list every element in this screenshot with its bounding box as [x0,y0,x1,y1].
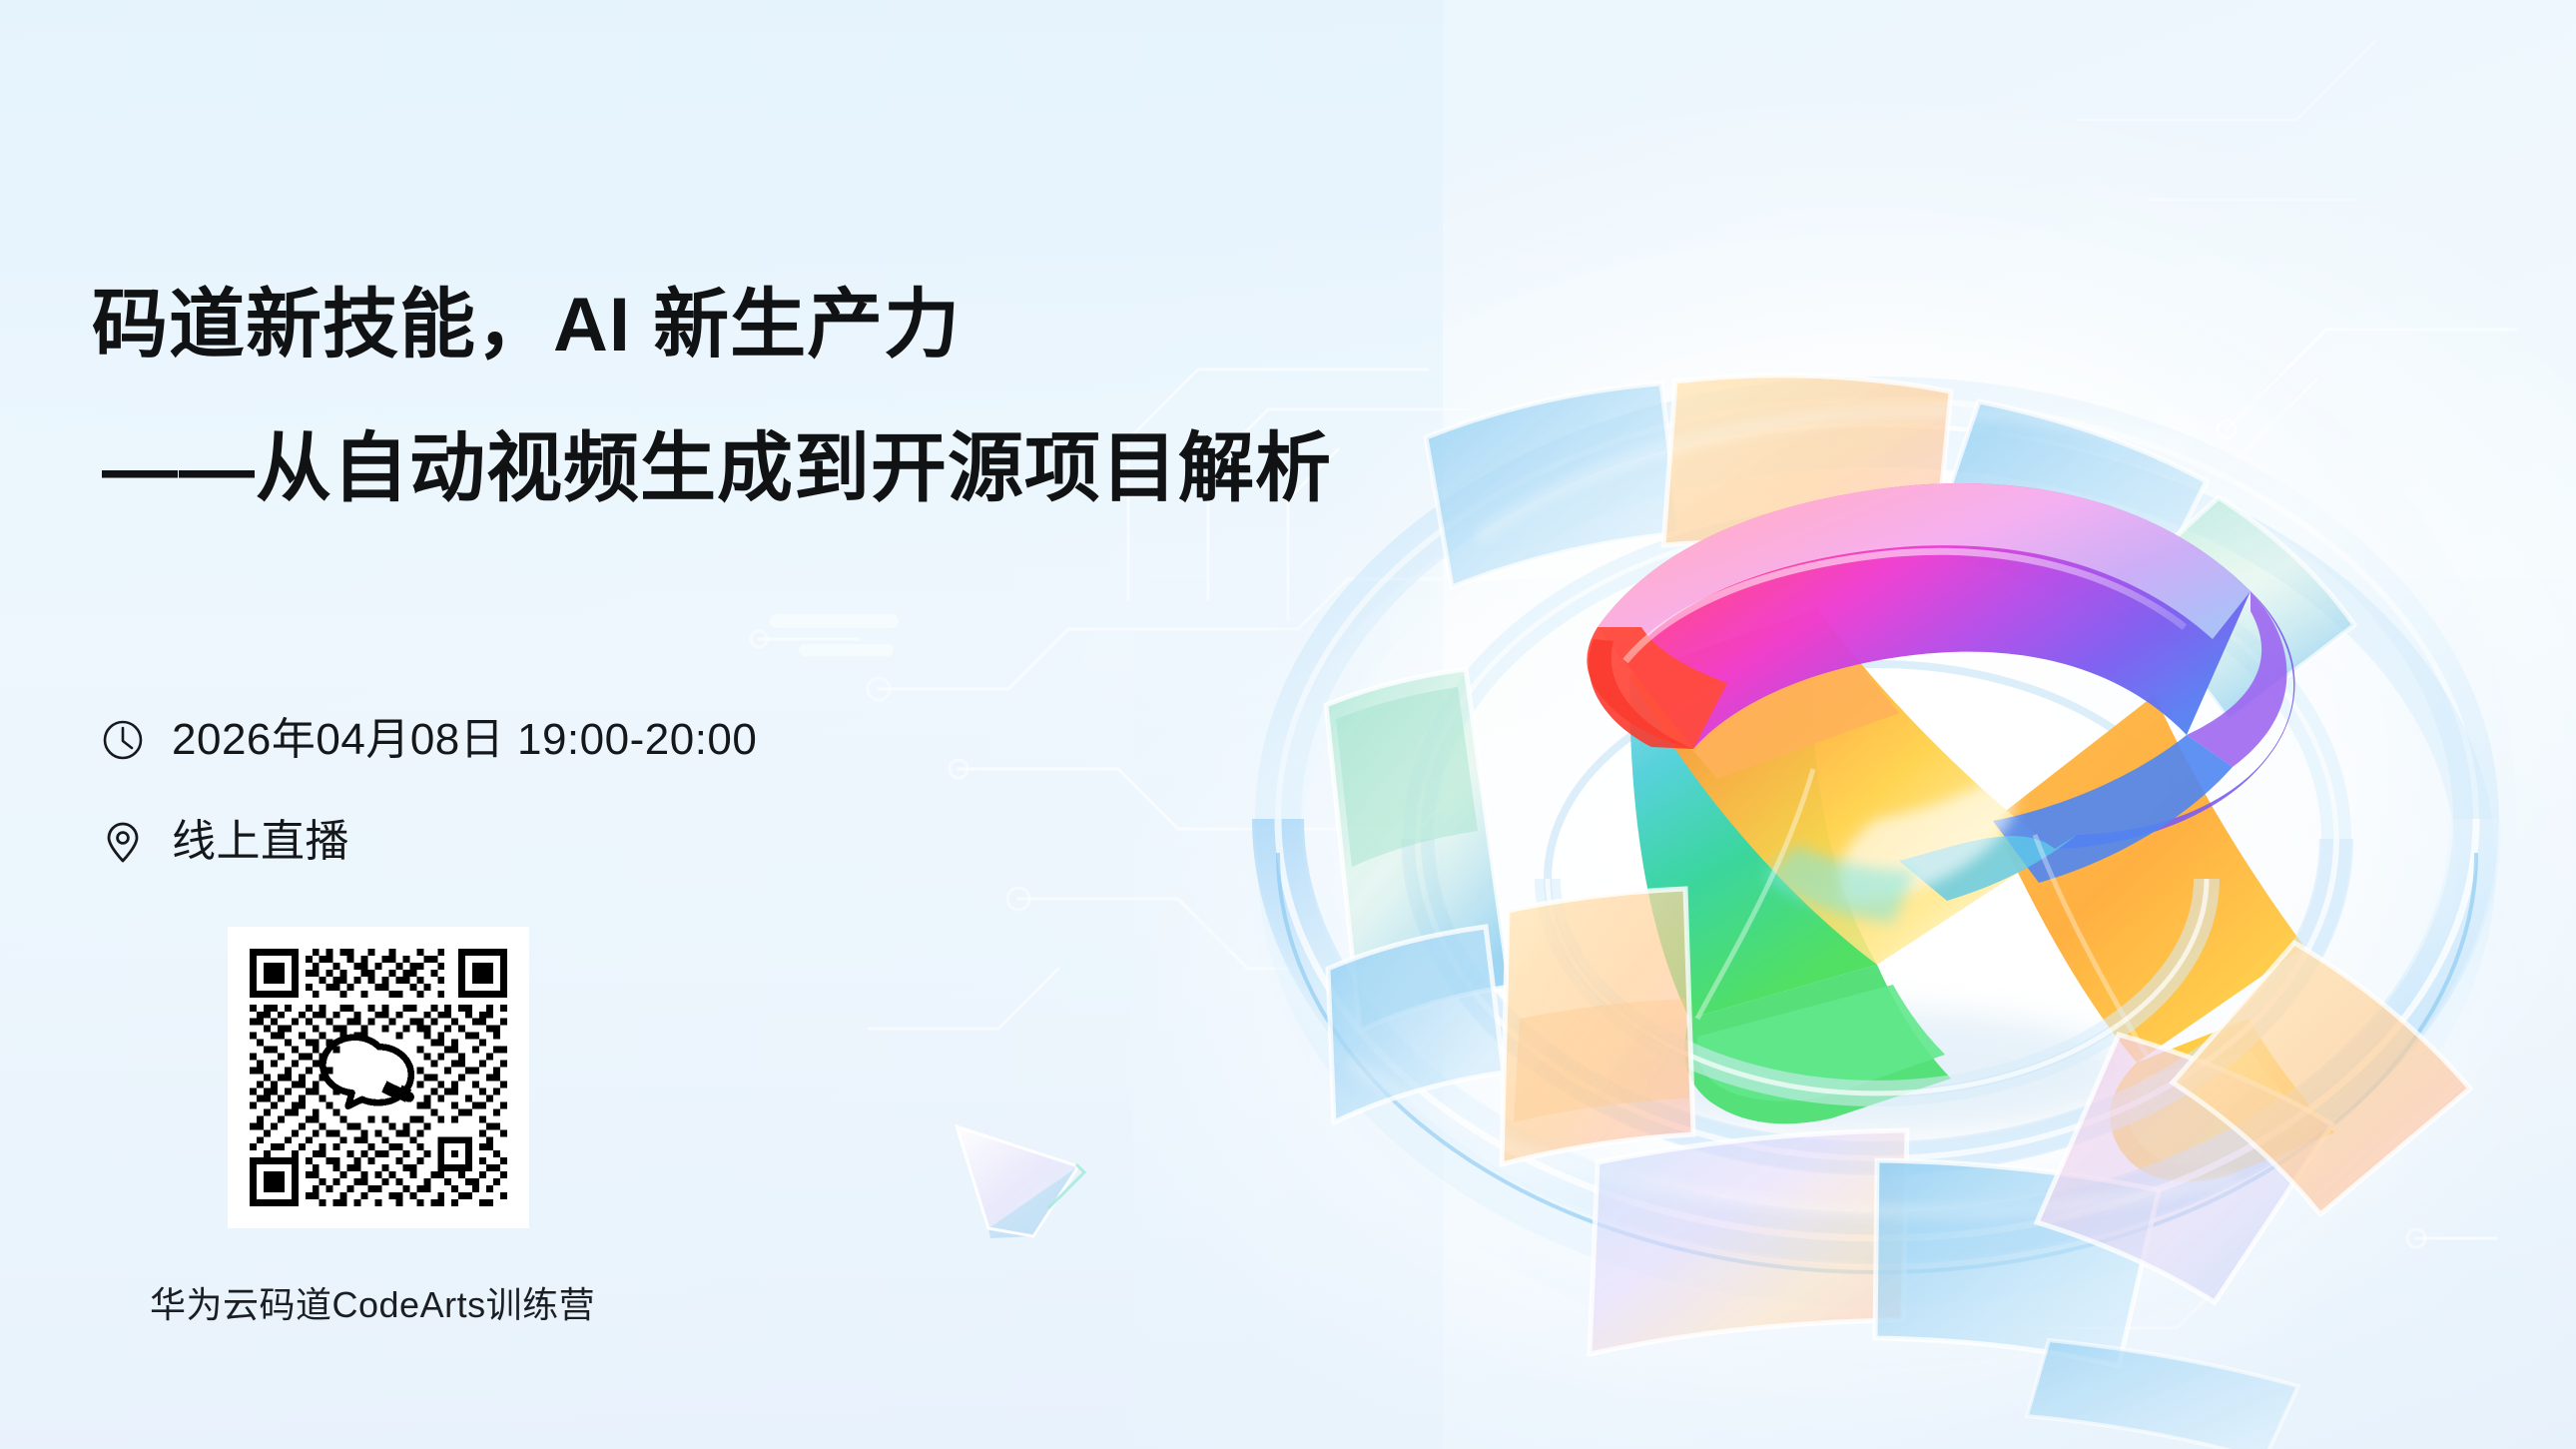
title-block: 码道新技能，AI 新生产力 ——从自动视频生成到开源项目解析 [92,288,1332,507]
event-place-row: 线上直播 [100,819,349,865]
event-place-text: 线上直播 [172,820,349,864]
clock-icon [100,717,146,763]
qr-code[interactable] [228,927,529,1228]
event-time-text: 2026年04月08日 19:00-20:00 [172,718,757,762]
content-column: 码道新技能，AI 新生产力 ——从自动视频生成到开源项目解析 2026年04月0… [0,0,1558,1449]
location-pin-icon [100,819,146,865]
poster-root: 码道新技能，AI 新生产力 ——从自动视频生成到开源项目解析 2026年04月0… [0,0,2576,1449]
page-title-line-1: 码道新技能，AI 新生产力 [92,288,1332,363]
qr-code-caption: 华为云码道CodeArts训练营 [150,1276,595,1328]
page-title-line-2: ——从自动视频生成到开源项目解析 [102,431,1332,507]
event-time-row: 2026年04月08日 19:00-20:00 [100,717,757,763]
qr-code-matrix [250,949,507,1206]
